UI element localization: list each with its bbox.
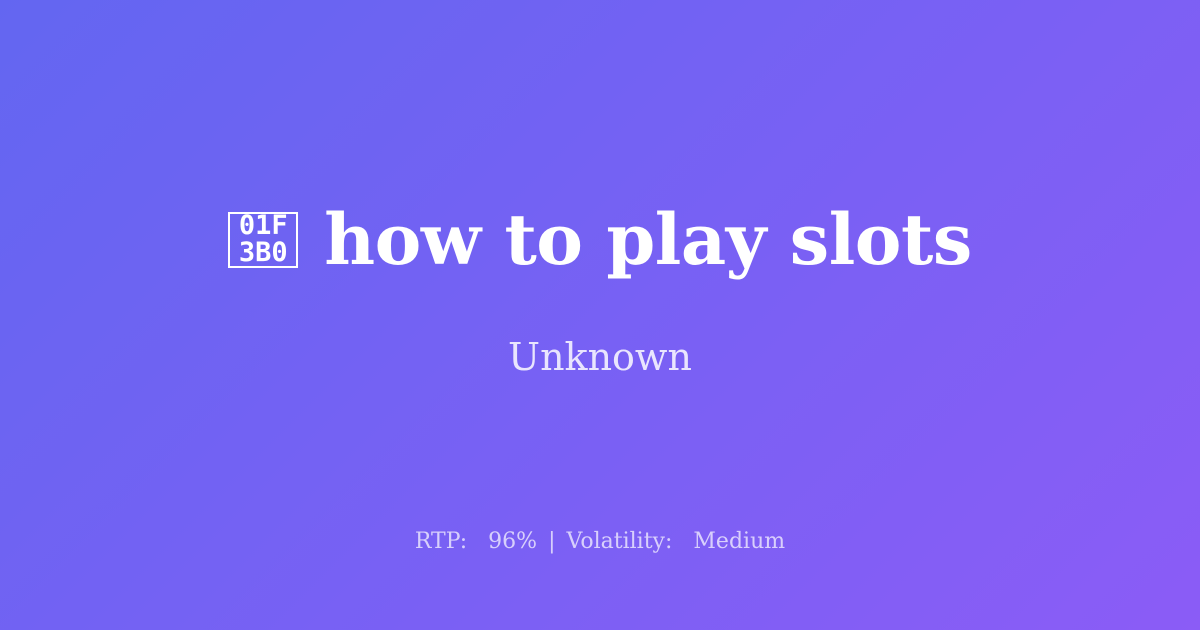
meta-separator: | — [544, 529, 559, 554]
og-card: 01F 3B0 how to play slots Unknown RTP: 9… — [0, 0, 1200, 630]
title-row: 01F 3B0 how to play slots — [228, 203, 971, 277]
provider-subtitle: Unknown — [508, 335, 692, 381]
rtp-value: 96% — [488, 529, 537, 554]
slot-machine-emoji-icon: 01F 3B0 — [228, 212, 298, 268]
emoji-codepoint-top: 01F — [239, 213, 288, 239]
emoji-codepoint-bottom: 3B0 — [239, 240, 288, 266]
page-title: how to play slots — [324, 203, 971, 277]
game-meta-footer: RTP: 96% | Volatility: Medium — [0, 528, 1200, 557]
volatility-value: Medium — [693, 529, 785, 554]
volatility-label: Volatility: — [567, 529, 673, 554]
rtp-label: RTP: — [415, 529, 467, 554]
